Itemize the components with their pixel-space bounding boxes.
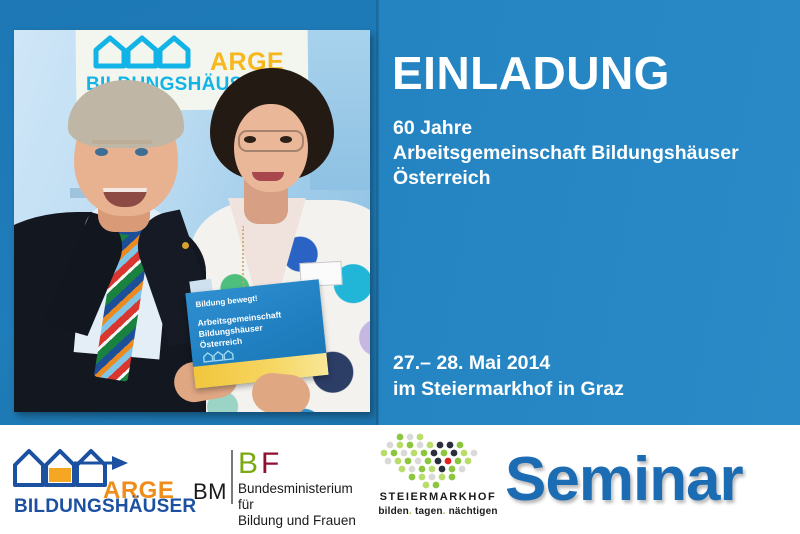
steiermarkhof-tagline-3: nächtigen bbox=[449, 506, 498, 517]
event-photo: ARGE BILDUNGSHÄUSER bbox=[14, 30, 370, 412]
man-eye-left bbox=[95, 148, 108, 156]
man-lapel-pin bbox=[182, 242, 189, 249]
brochure: Bildung bewegt! ArbeitsgemeinschaftBildu… bbox=[185, 279, 328, 388]
woman-glasses bbox=[238, 130, 304, 152]
dot-separator-1: . bbox=[409, 506, 412, 517]
backdrop-houses-icon bbox=[90, 32, 210, 72]
page-title: EINLADUNG bbox=[392, 48, 670, 98]
bmbf-ministry-name: Bundesministerium für Bildung und Frauen bbox=[238, 481, 363, 529]
arge-subword: BILDUNGSHÄUSER bbox=[14, 496, 196, 518]
arge-bildungshaeuser-logo: ARGE BILDUNGSHÄUSER bbox=[10, 439, 180, 519]
steiermarkhof-tagline-1: bilden bbox=[378, 506, 409, 517]
subtitle-line-2: Arbeitsgemeinschaft Bildungshäuser bbox=[393, 142, 739, 164]
woman-mouth bbox=[252, 172, 284, 181]
event-photo-content: ARGE BILDUNGSHÄUSER bbox=[14, 30, 370, 412]
brochure-tagline: Bildung bewegt! bbox=[195, 294, 258, 309]
subtitle-line-3: Österreich bbox=[393, 167, 491, 189]
steiermarkhof-tagline-2: tagen bbox=[415, 506, 443, 517]
subtitle-line-1: 60 Jahre bbox=[393, 117, 472, 139]
dot-separator-2: . bbox=[443, 506, 446, 517]
steiermarkhof-dot-map-icon bbox=[374, 431, 502, 491]
invitation-poster: ARGE BILDUNGSHÄUSER bbox=[0, 0, 800, 534]
bmbf-f-letter: F bbox=[261, 447, 279, 481]
seminar-label: Seminar bbox=[505, 444, 743, 515]
steiermarkhof-title: STEIERMARKHOF bbox=[374, 491, 502, 503]
event-date: 27.– 28. Mai 2014 bbox=[393, 352, 550, 374]
bmbf-divider bbox=[231, 450, 233, 504]
bmbf-b-letter: B bbox=[238, 447, 258, 481]
event-venue: im Steiermarkhof in Graz bbox=[393, 378, 624, 400]
panel-divider bbox=[376, 0, 379, 425]
steiermarkhof-logo: STEIERMARKHOF bilden. tagen. nächtigen bbox=[374, 431, 502, 529]
man-eye-right bbox=[135, 148, 148, 156]
event-details: 27.– 28. Mai 2014 im Steiermarkhof in Gr… bbox=[393, 350, 624, 402]
man-eyebrows bbox=[92, 140, 152, 144]
brochure-title: ArbeitsgemeinschaftBildungshäuserÖsterre… bbox=[197, 309, 284, 351]
event-subtitle: 60 Jahre Arbeitsgemeinschaft Bildungshäu… bbox=[393, 116, 793, 191]
bmbf-logo: BM B F Bundesministerium für Bildung und… bbox=[193, 445, 363, 517]
steiermarkhof-tagline: bilden. tagen. nächtigen bbox=[374, 506, 502, 517]
brochure-houses-icon bbox=[201, 348, 238, 364]
bmbf-bm-text: BM bbox=[193, 479, 227, 505]
